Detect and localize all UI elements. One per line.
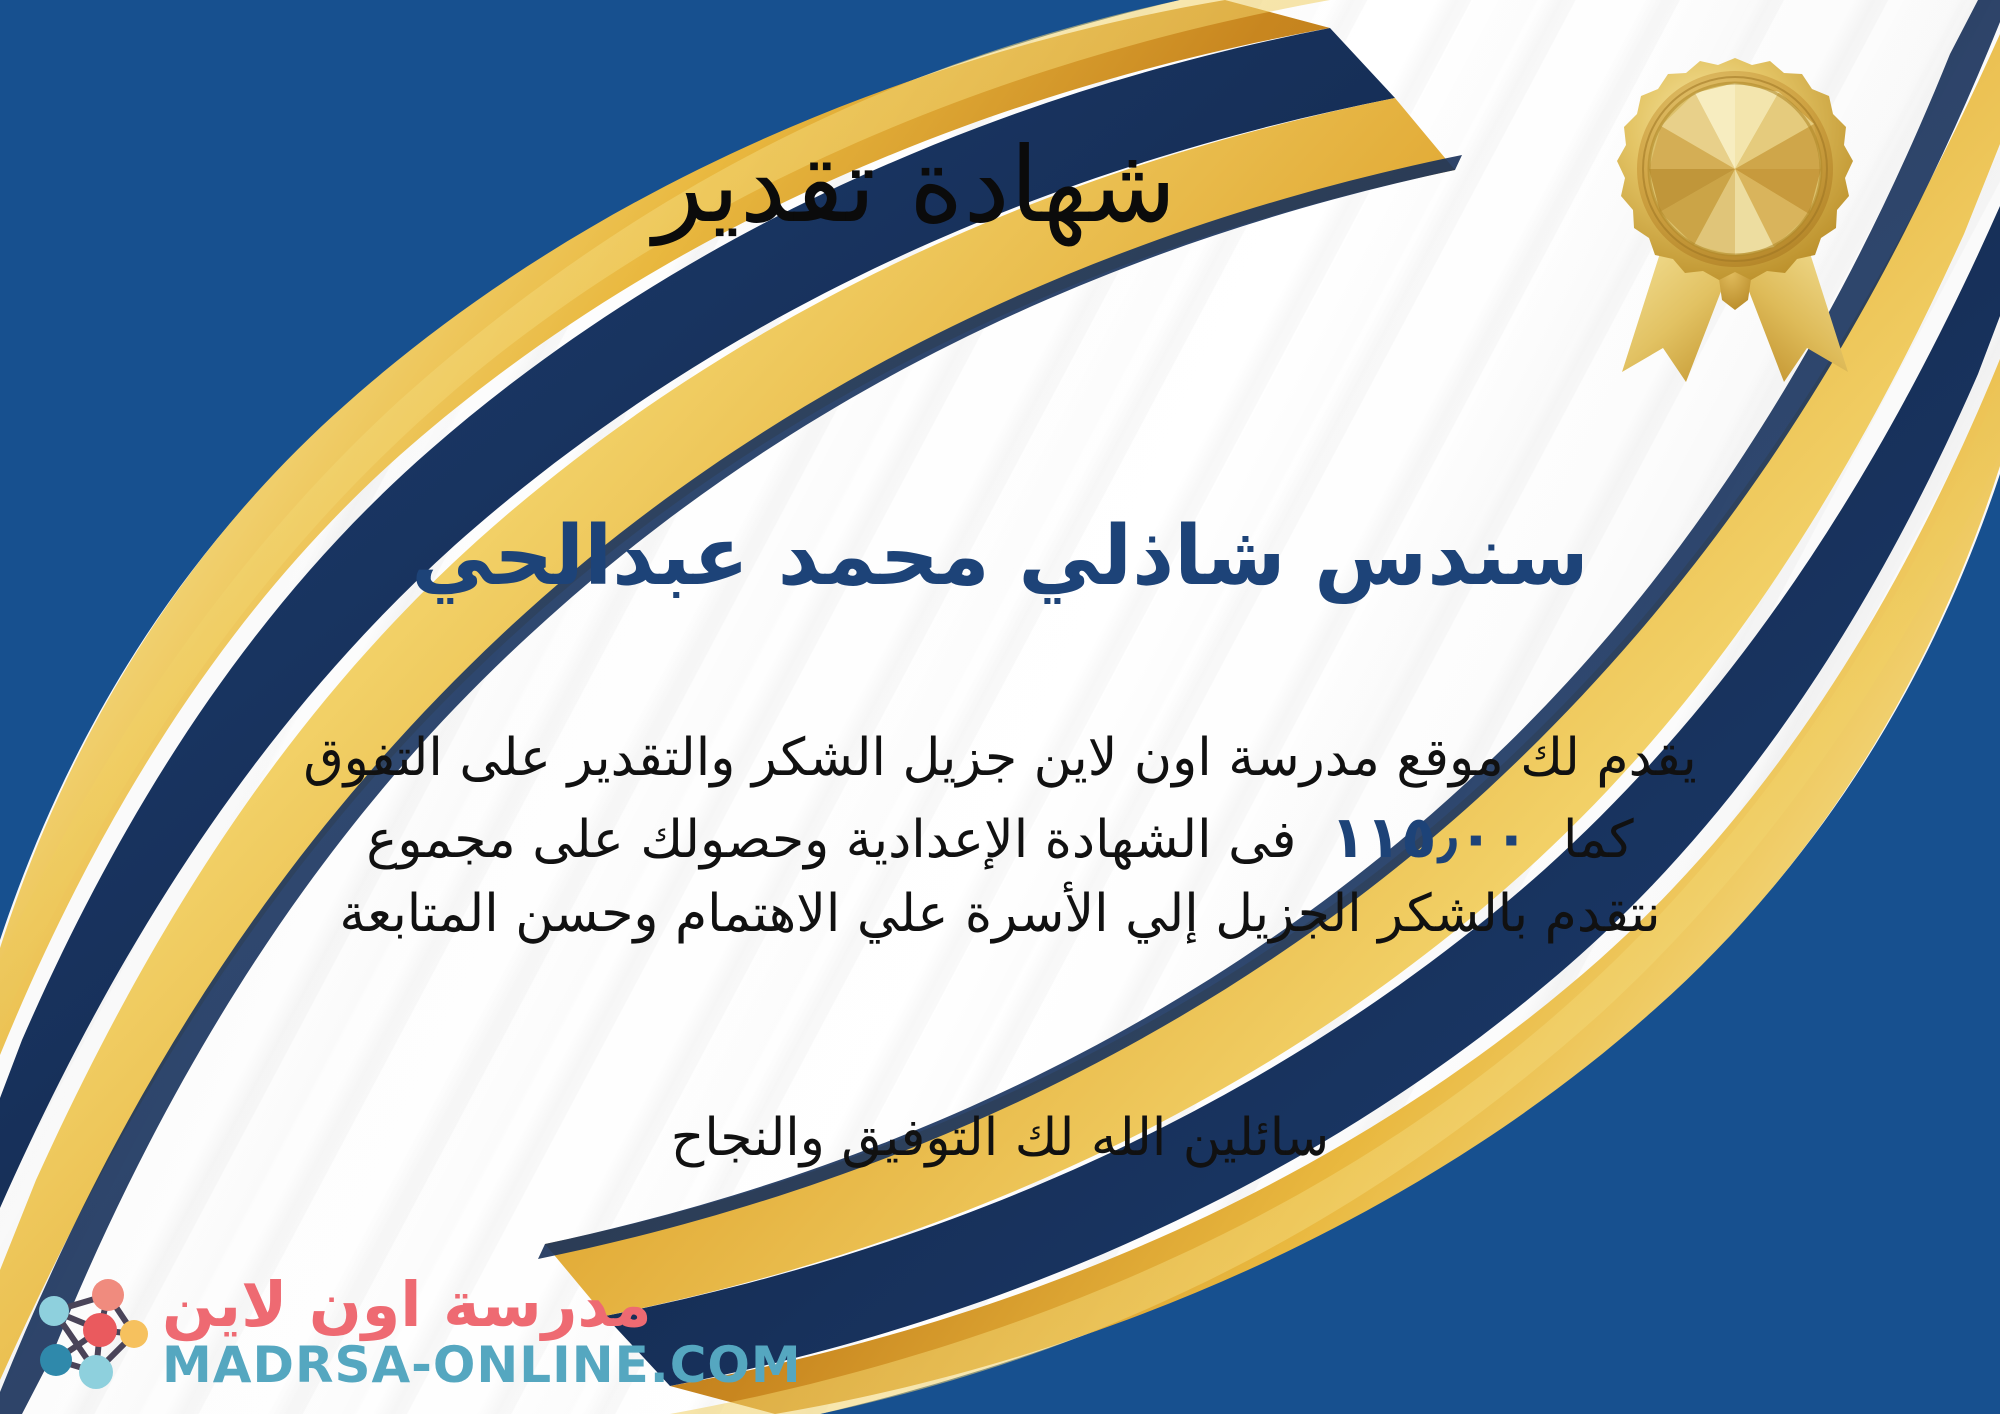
certificate-body: يقدم لك موقع مدرسة اون لاين جزيل الشكر و… xyxy=(55,722,1945,952)
score-value: ١١٥٫٠٠ xyxy=(1296,803,1563,871)
node-dark-teal xyxy=(40,1344,72,1376)
body-line-2: كما١١٥٫٠٠فى الشهادة الإعدادية وحصولك على… xyxy=(55,796,1945,878)
closing-wish: سائلين الله لك التوفيق والنجاح xyxy=(0,1108,2000,1168)
node-amber xyxy=(120,1320,148,1348)
network-nodes-icon xyxy=(30,1268,148,1396)
certificate-title: شهادة تقدير xyxy=(0,128,2000,242)
body-line-1: يقدم لك موقع مدرسة اون لاين جزيل الشكر و… xyxy=(55,722,1945,796)
node-light-teal xyxy=(39,1296,69,1326)
recipient-name: سندس شاذلي محمد عبدالحي xyxy=(0,508,2000,606)
body-line-2-prefix: فى الشهادة الإعدادية وحصولك على مجموع xyxy=(366,810,1296,870)
certificate-canvas: شهادة تقدير سندس شاذلي محمد عبدالحي يقدم… xyxy=(0,0,2000,1414)
node-salmon xyxy=(92,1279,124,1311)
site-logo[interactable]: مدرسة اون لاين MADRSA-ONLINE.COM xyxy=(30,1268,802,1396)
node-light-teal-2 xyxy=(79,1355,113,1389)
body-line-2-suffix: كما xyxy=(1563,810,1634,870)
logo-website: MADRSA-ONLINE.COM xyxy=(162,1340,802,1390)
body-line-3: نتقدم بالشكر الجزيل إلي الأسرة علي الاهت… xyxy=(55,878,1945,952)
logo-text-group: مدرسة اون لاين MADRSA-ONLINE.COM xyxy=(162,1274,802,1390)
node-red xyxy=(83,1313,117,1347)
logo-arabic-name: مدرسة اون لاين xyxy=(162,1274,652,1336)
